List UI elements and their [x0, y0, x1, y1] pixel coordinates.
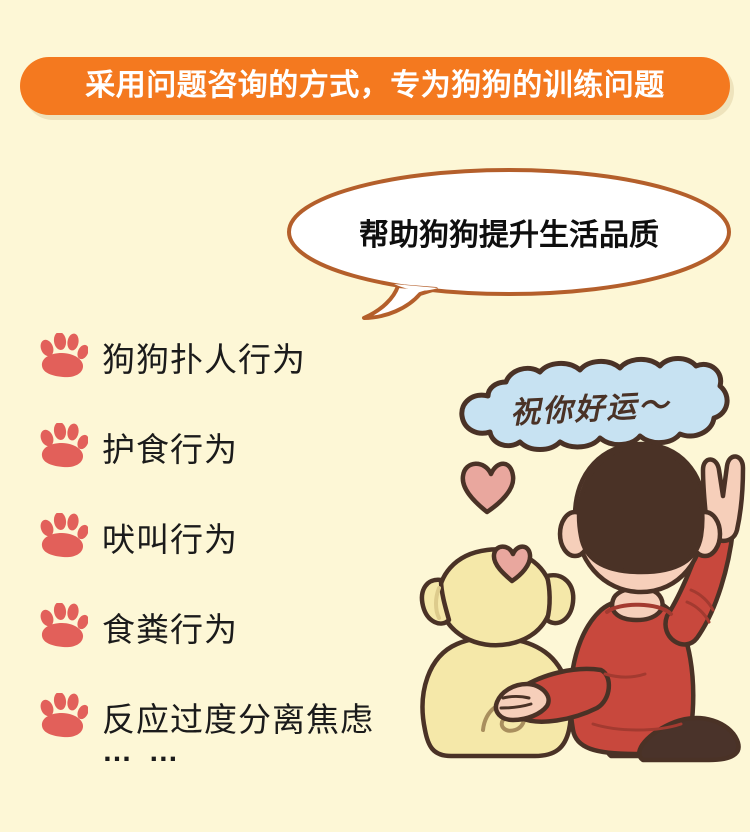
- dog-ear-right: [547, 575, 573, 623]
- list-ellipsis: … …: [102, 735, 182, 769]
- speech-bubble: 帮助狗狗提升生活品质: [286, 168, 732, 320]
- list-item-label: 反应过度分离焦虑: [102, 693, 374, 741]
- poster-root: 采用问题咨询的方式，专为狗狗的训练问题 帮助狗狗提升生活品质 狗狗扑人行为: [0, 0, 750, 832]
- list-item[interactable]: 食粪行为: [36, 582, 466, 672]
- heart-large: [463, 464, 513, 512]
- list-item[interactable]: 吠叫行为: [36, 492, 466, 582]
- list-item[interactable]: 护食行为: [36, 402, 466, 492]
- header-banner-text: 采用问题咨询的方式，专为狗狗的训练问题: [85, 71, 665, 101]
- list-item[interactable]: 狗狗扑人行为: [36, 312, 466, 402]
- behaviour-list: 狗狗扑人行为 护食行为: [36, 312, 466, 762]
- paw-print-icon: [36, 603, 88, 651]
- list-item-label: 吠叫行为: [102, 513, 238, 561]
- paw-print-icon: [36, 513, 88, 561]
- cloud-bubble-text: 祝你好运～: [442, 350, 739, 461]
- list-item-label: 食粪行为: [102, 603, 238, 651]
- list-item-label: 护食行为: [102, 423, 238, 471]
- person-hair: [579, 446, 702, 572]
- list-item[interactable]: 反应过度分离焦虑: [36, 672, 466, 762]
- speech-bubble-text: 帮助狗狗提升生活品质: [286, 168, 732, 296]
- paw-print-icon: [36, 333, 88, 381]
- header-banner: 采用问题咨询的方式，专为狗狗的训练问题: [20, 57, 730, 115]
- cloud-bubble: 祝你好运～: [444, 358, 736, 454]
- person-hugging-dog-illustration: [405, 430, 750, 760]
- paw-print-icon: [36, 693, 88, 741]
- paw-print-icon: [36, 423, 88, 471]
- list-item-label: 狗狗扑人行为: [102, 333, 306, 381]
